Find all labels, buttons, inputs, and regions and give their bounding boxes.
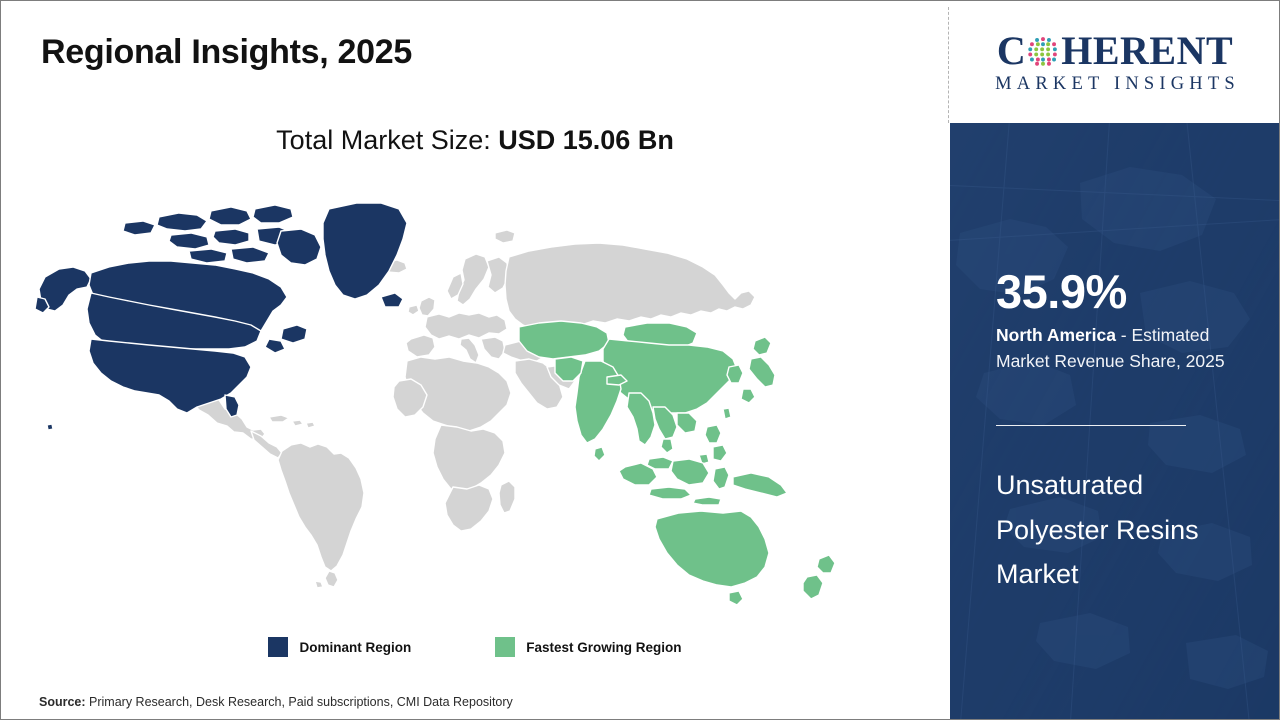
brand-letter-c: C <box>997 31 1026 71</box>
legend-label-dominant: Dominant Region <box>299 640 411 655</box>
stat-panel-content: 35.9% North America - Estimated Market R… <box>996 123 1268 719</box>
page-title: Regional Insights, 2025 <box>41 33 412 72</box>
map-region-north-america <box>35 203 407 430</box>
stat-region-name: North America <box>996 325 1116 345</box>
brand-logo: C <box>950 2 1280 123</box>
source-label: Source: <box>39 695 86 709</box>
map-legend: Dominant Region Fastest Growing Region <box>1 637 949 657</box>
legend-item-fastest-growing: Fastest Growing Region <box>495 637 681 657</box>
map-region-asia-pacific <box>519 321 835 605</box>
brand-wordmark: C <box>997 31 1233 71</box>
source-note: Source: Primary Research, Desk Research,… <box>39 695 513 709</box>
legend-item-dominant: Dominant Region <box>268 637 411 657</box>
stat-percentage: 35.9% <box>996 268 1127 315</box>
legend-label-fastest-growing: Fastest Growing Region <box>526 640 681 655</box>
total-market-size-value: USD 15.06 Bn <box>498 125 674 155</box>
dot-sphere-icon <box>1026 34 1060 68</box>
total-market-size-label: Total Market Size: <box>276 125 498 155</box>
left-pane: Regional Insights, 2025 Total Market Siz… <box>1 1 949 719</box>
vertical-divider <box>948 7 949 123</box>
stat-panel: 35.9% North America - Estimated Market R… <box>950 123 1280 719</box>
infographic-canvas: Regional Insights, 2025 Total Market Siz… <box>0 0 1280 720</box>
brand-letters-herent: HERENT <box>1061 31 1233 71</box>
brand-tagline: MARKET INSIGHTS <box>990 74 1240 95</box>
total-market-size: Total Market Size: USD 15.06 Bn <box>1 125 949 156</box>
world-map <box>29 181 909 621</box>
market-name: Unsaturated Polyester Resins Market <box>996 463 1258 597</box>
legend-swatch-fastest-growing <box>495 637 515 657</box>
stat-description: North America - Estimated Market Revenue… <box>996 323 1264 374</box>
source-text: Primary Research, Desk Research, Paid su… <box>86 695 513 709</box>
panel-divider-rule <box>996 425 1186 426</box>
legend-swatch-dominant <box>268 637 288 657</box>
